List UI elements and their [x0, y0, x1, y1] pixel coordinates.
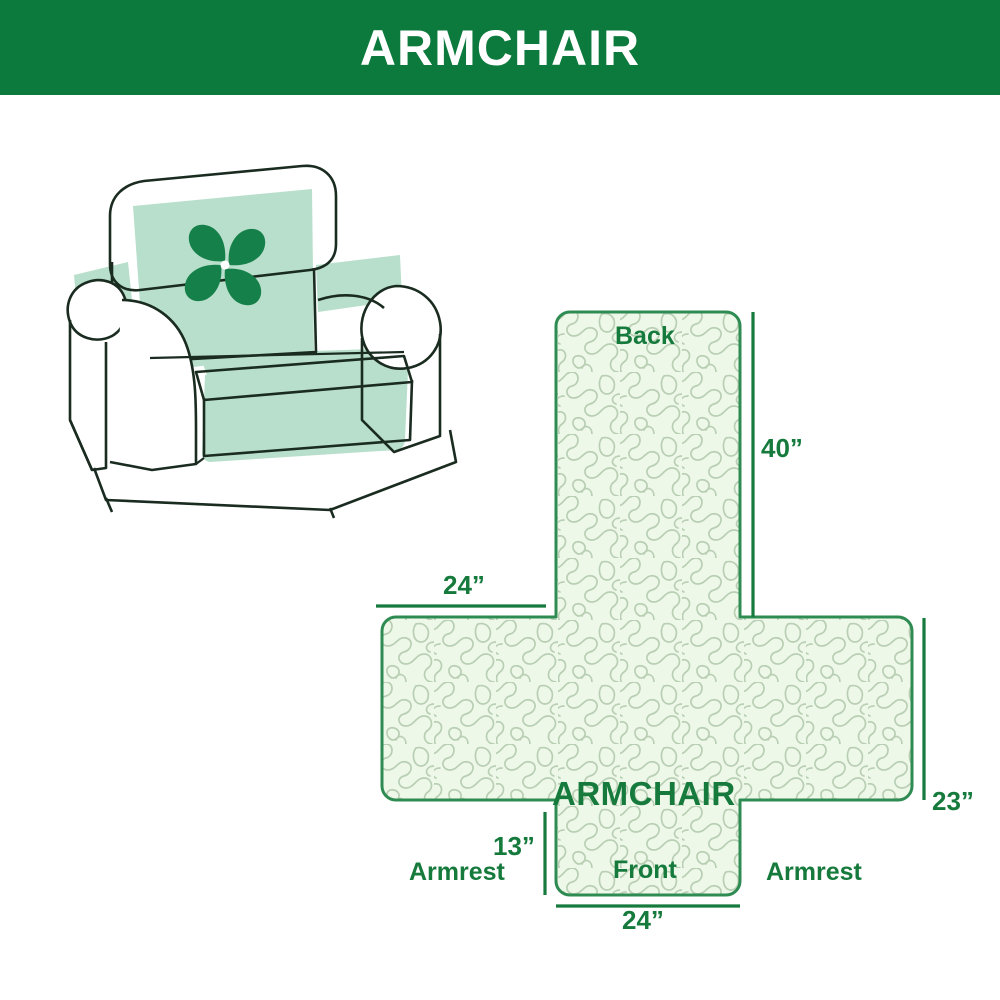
armchair-illustration — [68, 166, 456, 518]
dimension-label-front-width: 24” — [622, 907, 664, 933]
panel-label-center: ARMCHAIR — [552, 777, 736, 810]
panel-label-armrest-right: Armrest — [766, 860, 862, 885]
diagram-canvas: Back ARMCHAIR Armrest Armrest Front 40” … — [0, 95, 1000, 1000]
chair-left-arm-roll — [68, 280, 127, 339]
dimension-label-back-height: 40” — [761, 435, 803, 461]
chair-left-arm-side — [70, 320, 106, 470]
dimension-label-back-width: 24” — [443, 572, 485, 598]
panel-label-armrest-left: Armrest — [409, 860, 505, 885]
panel-label-front: Front — [613, 858, 677, 883]
dimension-label-front-height: 13” — [493, 833, 535, 859]
chair-left-base-edge — [70, 420, 92, 470]
dimension-label-body-height: 23” — [932, 788, 974, 814]
panel-label-back: Back — [615, 324, 675, 349]
